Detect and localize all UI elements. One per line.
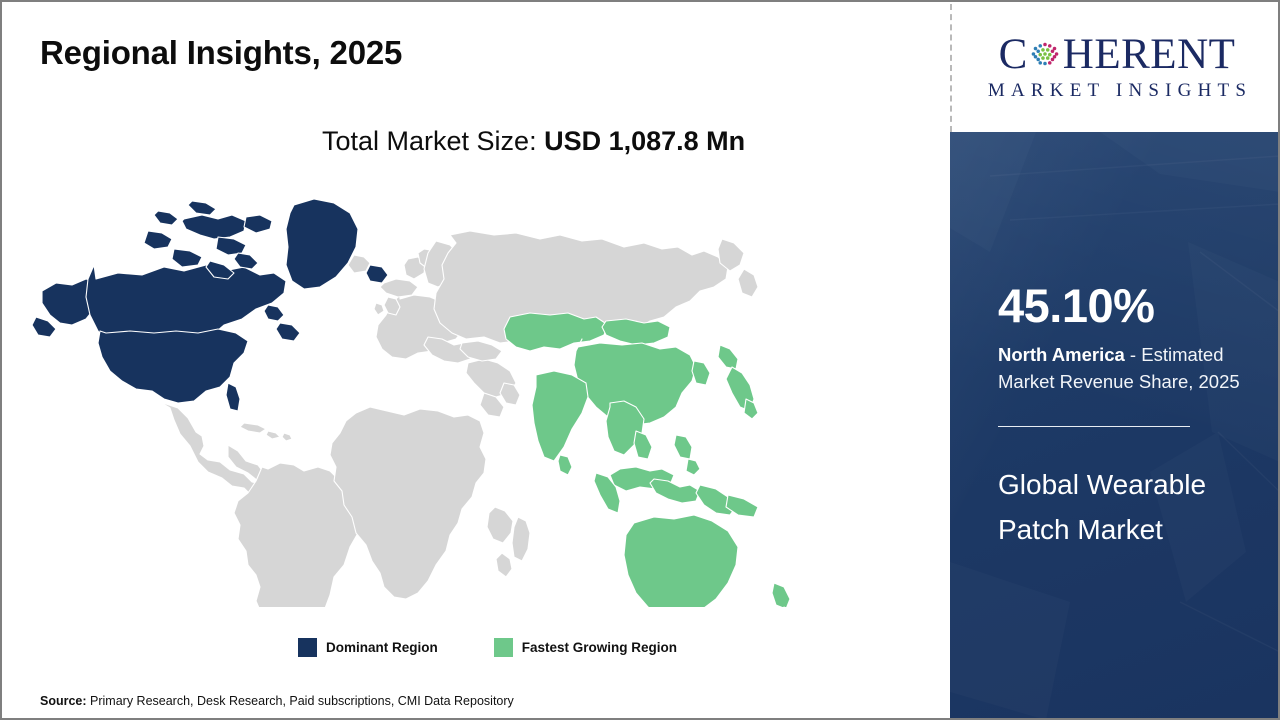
stat-value: 45.10%: [998, 282, 1266, 329]
legend-label-fastest-growing: Fastest Growing Region: [522, 640, 677, 655]
left-content-pane: Regional Insights, 2025 Total Market Siz…: [2, 2, 950, 718]
source-label: Source:: [40, 694, 87, 708]
market-name: Global Wearable Patch Market: [998, 462, 1260, 553]
panel-divider: [998, 426, 1190, 427]
globe-icon: [1028, 37, 1062, 71]
legend-item-fastest-growing: Fastest Growing Region: [494, 638, 677, 657]
stat-region-name: North America: [998, 344, 1125, 365]
logo-wordmark: C HERENT: [999, 33, 1236, 76]
company-logo: C HERENT M: [954, 2, 1280, 132]
source-note: Source: Primary Research, Desk Research,…: [40, 694, 514, 708]
total-market-size: Total Market Size: USD 1,087.8 Mn: [322, 126, 745, 157]
map-region-north-america: [32, 199, 388, 411]
slide-canvas: Regional Insights, 2025 Total Market Siz…: [0, 0, 1280, 720]
map-legend: Dominant Region Fastest Growing Region: [298, 638, 677, 657]
stat-description: North America - Estimated Market Revenue…: [998, 342, 1266, 395]
legend-swatch-fastest-growing: [494, 638, 513, 657]
stat-block: 45.10% North America - Estimated Market …: [998, 282, 1266, 395]
world-map: [32, 187, 842, 607]
world-map-svg: [32, 187, 842, 607]
vertical-dashed-divider: [950, 4, 952, 132]
source-value: Primary Research, Desk Research, Paid su…: [87, 694, 514, 708]
logo-word-rest: HERENT: [1063, 33, 1236, 76]
market-size-value: USD 1,087.8 Mn: [544, 126, 745, 156]
logo-letter-c: C: [999, 33, 1028, 76]
map-region-asia-pacific: [504, 313, 800, 607]
legend-swatch-dominant: [298, 638, 317, 657]
market-size-label: Total Market Size:: [322, 126, 537, 156]
legend-item-dominant: Dominant Region: [298, 638, 438, 657]
logo-subtitle: MARKET INSIGHTS: [982, 80, 1252, 102]
page-title: Regional Insights, 2025: [40, 34, 402, 72]
right-stat-panel: 45.10% North America - Estimated Market …: [950, 132, 1280, 720]
legend-label-dominant: Dominant Region: [326, 640, 438, 655]
